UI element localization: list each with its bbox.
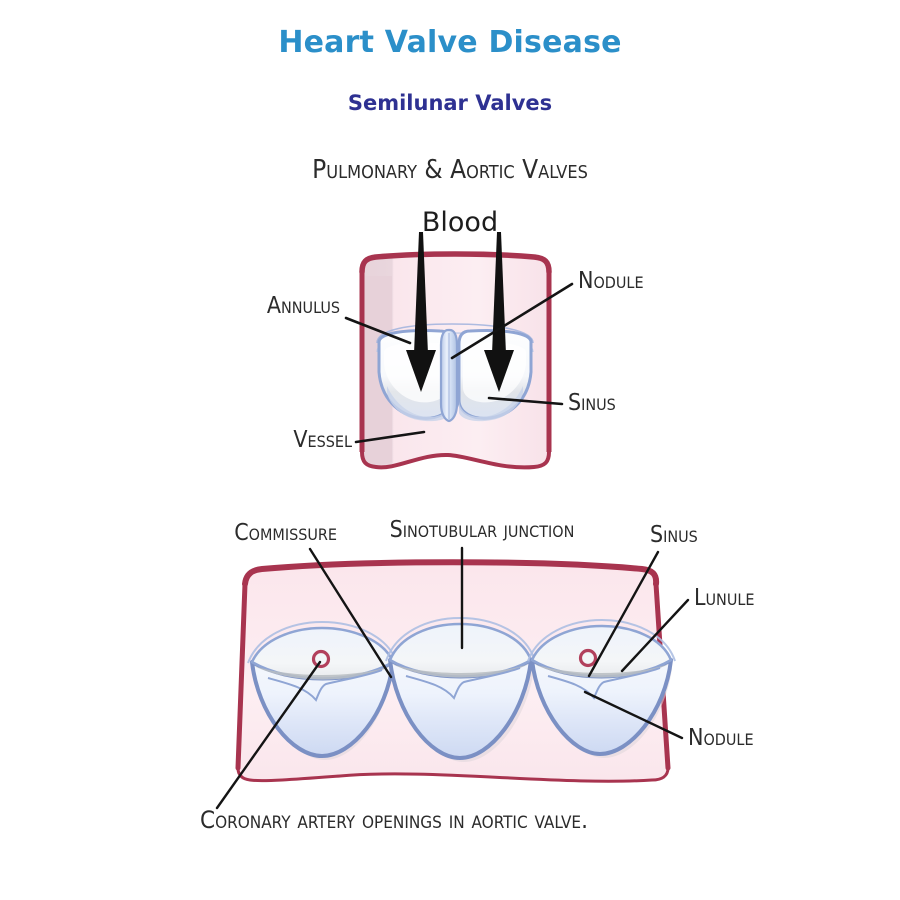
label-sinus-bottom: Sinus — [650, 522, 698, 548]
illustration-canvas: Heart Valve Disease Semilunar Valves Pul… — [0, 0, 900, 900]
figure-bottom: Commissure Sinotubular junction Sinus Lu… — [0, 0, 900, 900]
label-lunule: Lunule — [694, 585, 754, 611]
label-sinotubular-junction: Sinotubular junction — [390, 517, 575, 543]
figure-bottom-caption: Coronary artery openings in aortic valve… — [200, 806, 588, 834]
label-nodule-bottom: Nodule — [688, 725, 754, 751]
label-commissure: Commissure — [234, 520, 337, 546]
